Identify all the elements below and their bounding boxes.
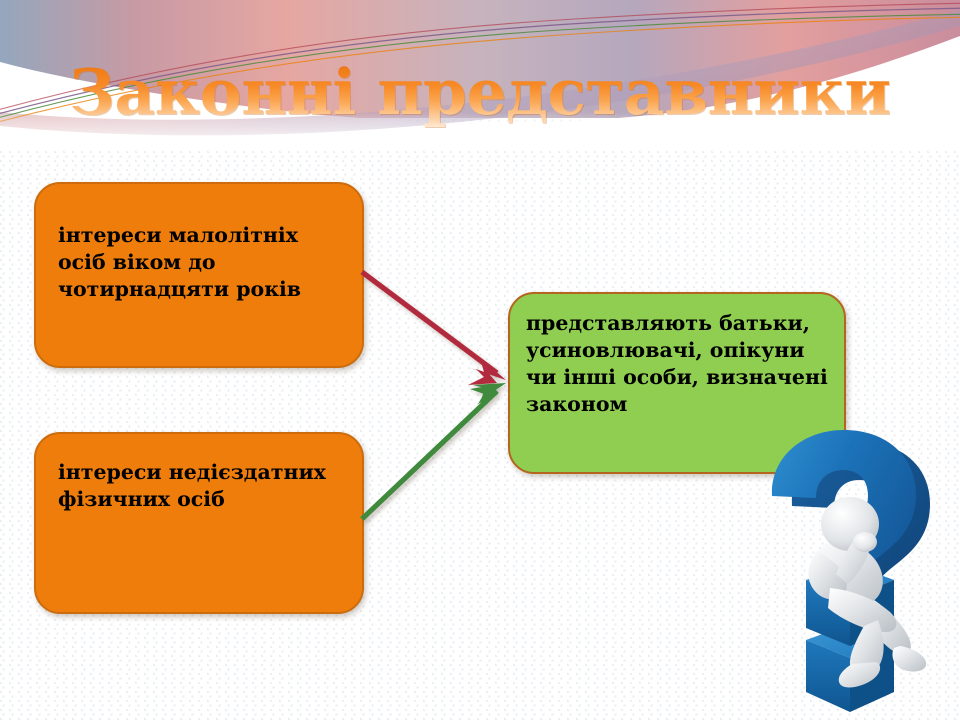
node-box-incapable[interactable]: інтереси недієздатних фізичних осіб (34, 432, 364, 614)
node-box-minors[interactable]: інтереси малолітніх осіб віком до чотирн… (34, 182, 364, 368)
node-box-incapable-label: інтереси недієздатних фізичних осіб (58, 459, 348, 513)
slide-canvas: Законні представники інтереси малолітніх… (0, 0, 960, 720)
node-box-representatives-label: представляють батьки, усиновлювачі, опік… (526, 310, 832, 418)
page-title: Законні представники (0, 57, 960, 127)
question-mark-thinking-figure-clipart (718, 424, 960, 720)
node-box-minors-label: інтереси малолітніх осіб віком до чотирн… (58, 222, 348, 303)
